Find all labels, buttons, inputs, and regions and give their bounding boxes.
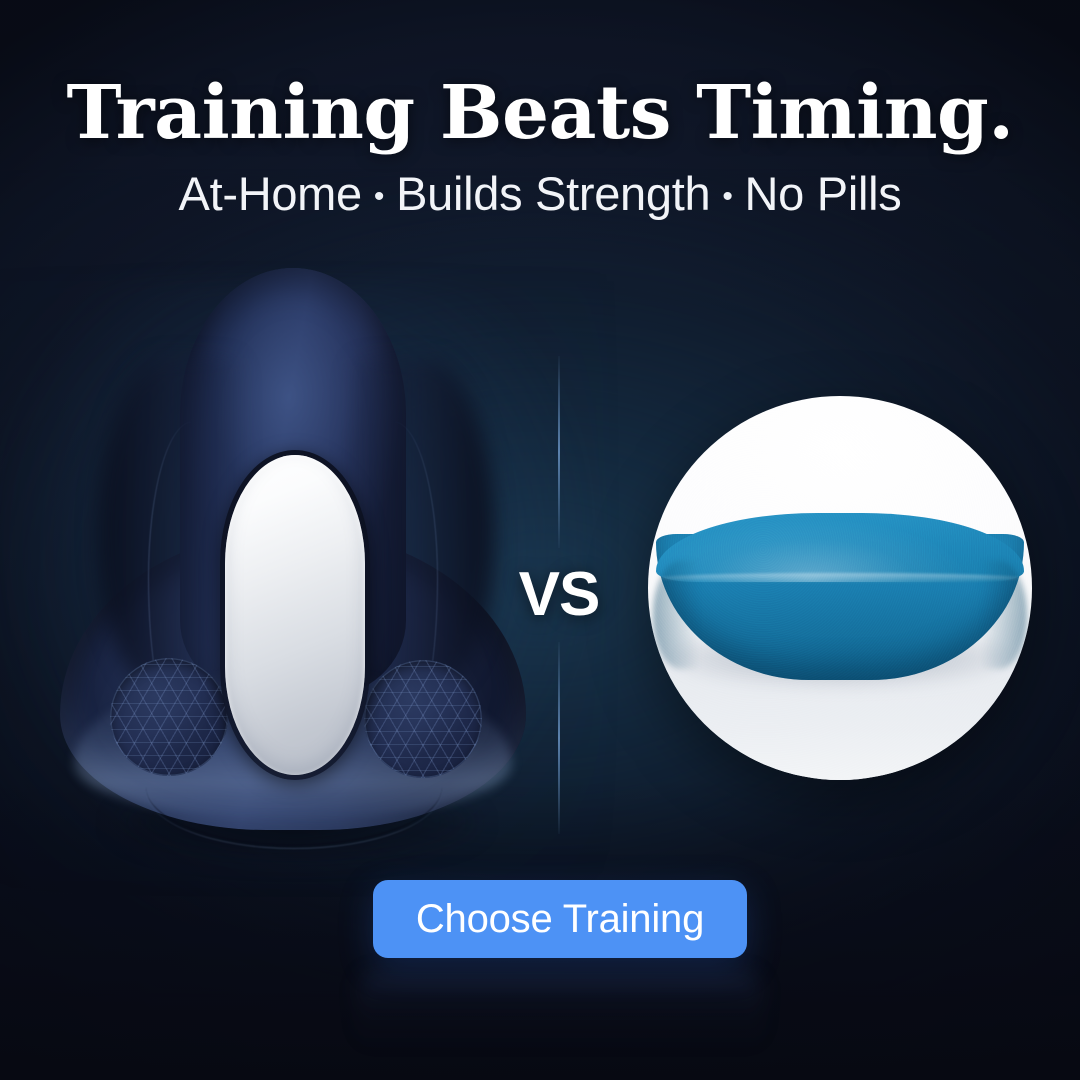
subheadline-item-1: At-Home <box>179 167 362 220</box>
advertisement-canvas: Training Beats Timing. At-Home•Builds St… <box>0 0 1080 1080</box>
headline: Training Beats Timing. <box>0 76 1080 150</box>
cta-reflection <box>358 972 762 1048</box>
bullet-separator-icon: • <box>722 182 732 212</box>
device-panel-oval <box>225 455 365 775</box>
header-block: Training Beats Timing. At-Home•Builds St… <box>0 76 1080 217</box>
subheadline-item-3: No Pills <box>745 167 902 220</box>
subheadline: At-Home•Builds Strength•No Pills <box>0 170 1080 217</box>
training-device-image <box>52 262 534 832</box>
pill-top-cap <box>656 513 1025 582</box>
pill-edge-shade-left <box>653 561 699 669</box>
divider-line-bottom <box>558 642 560 834</box>
divider-line-top <box>558 356 560 548</box>
subheadline-item-2: Builds Strength <box>396 167 710 220</box>
blue-pill-image <box>648 396 1032 780</box>
versus-divider: VS <box>558 350 560 840</box>
choose-training-button[interactable]: Choose Training <box>373 880 747 958</box>
versus-label: VS <box>519 564 600 626</box>
bullet-separator-icon: • <box>374 182 384 212</box>
